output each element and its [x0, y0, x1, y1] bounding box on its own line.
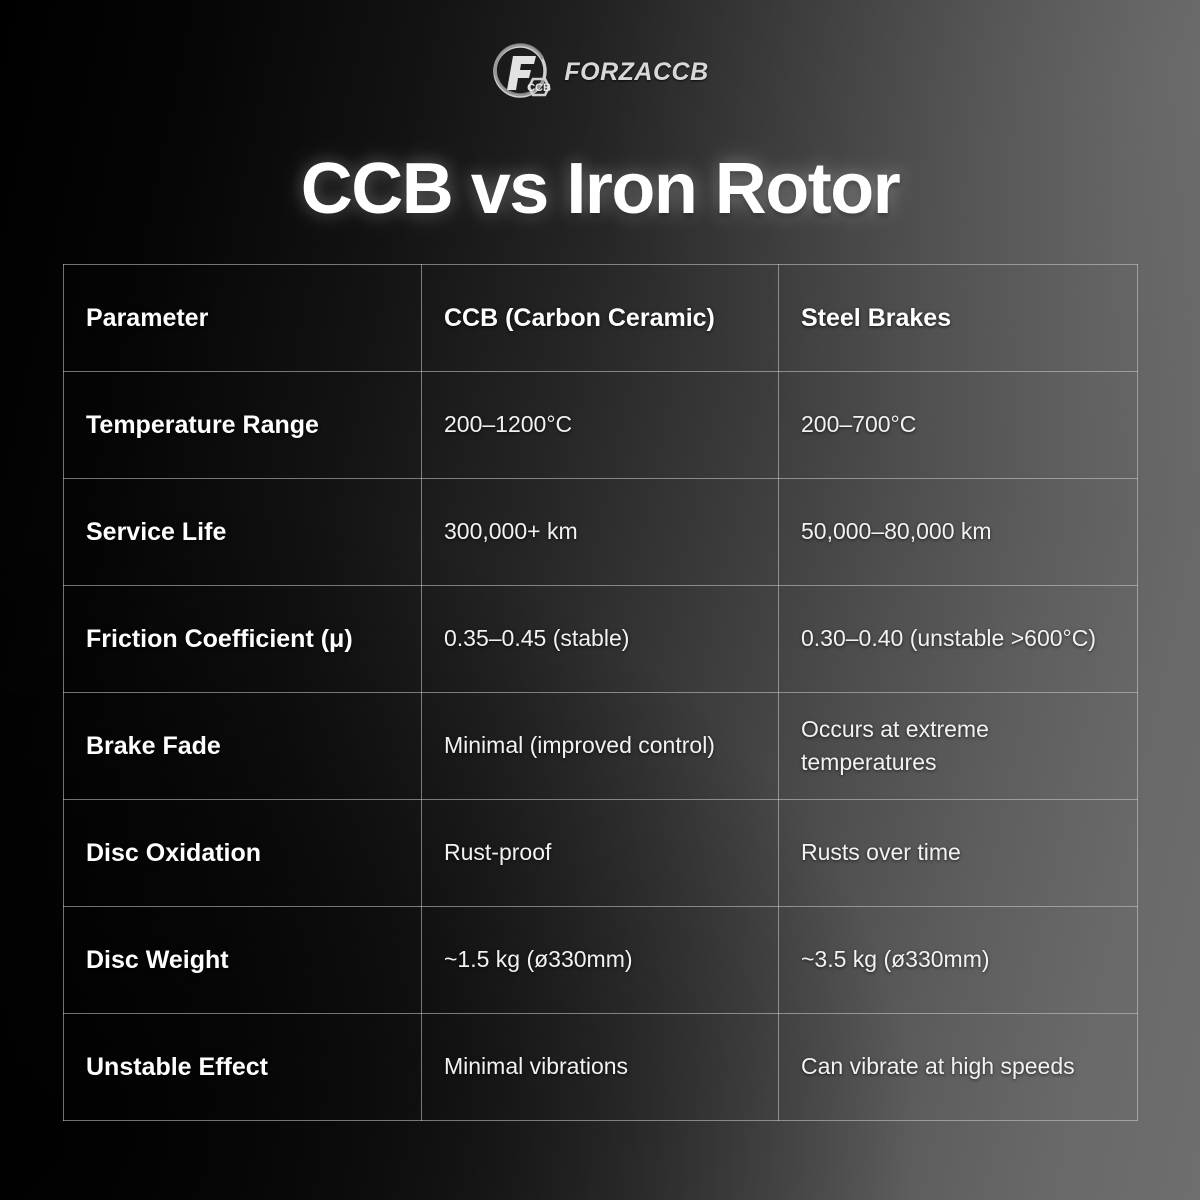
brand-header: CCB FORZACCB: [0, 0, 1200, 104]
row-label: Disc Oxidation: [64, 800, 422, 907]
cell-ccb: Minimal vibrations: [422, 1014, 779, 1121]
column-header-steel: Steel Brakes: [779, 265, 1138, 372]
row-label: Temperature Range: [64, 372, 422, 479]
cell-steel: Can vibrate at high speeds: [779, 1014, 1138, 1121]
poster-canvas: CCB FORZACCB CCB vs Iron Rotor Parameter…: [0, 0, 1200, 1200]
row-label: Friction Coefficient (μ): [64, 586, 422, 693]
cell-ccb: 0.35–0.45 (stable): [422, 586, 779, 693]
cell-steel: ~3.5 kg (ø330mm): [779, 907, 1138, 1014]
table-row: Brake Fade Minimal (improved control) Oc…: [64, 693, 1138, 800]
cell-ccb: ~1.5 kg (ø330mm): [422, 907, 779, 1014]
cell-steel: 50,000–80,000 km: [779, 479, 1138, 586]
column-header-parameter: Parameter: [64, 265, 422, 372]
table-header-row: Parameter CCB (Carbon Ceramic) Steel Bra…: [64, 265, 1138, 372]
brand-wordmark: FORZACCB: [564, 58, 708, 87]
table-row: Temperature Range 200–1200°C 200–700°C: [64, 372, 1138, 479]
forzaccb-logo-icon: CCB: [491, 42, 551, 102]
table-header: Parameter CCB (Carbon Ceramic) Steel Bra…: [64, 265, 1138, 372]
cell-steel: 200–700°C: [779, 372, 1138, 479]
svg-text:CCB: CCB: [527, 82, 551, 94]
table-body: Temperature Range 200–1200°C 200–700°C S…: [64, 372, 1138, 1121]
table-row: Disc Oxidation Rust-proof Rusts over tim…: [64, 800, 1138, 907]
row-label: Service Life: [64, 479, 422, 586]
column-header-ccb: CCB (Carbon Ceramic): [422, 265, 779, 372]
table-row: Unstable Effect Minimal vibrations Can v…: [64, 1014, 1138, 1121]
table-row: Disc Weight ~1.5 kg (ø330mm) ~3.5 kg (ø3…: [64, 907, 1138, 1014]
page-title: CCB vs Iron Rotor: [0, 104, 1200, 230]
cell-ccb: 300,000+ km: [422, 479, 779, 586]
cell-steel: 0.30–0.40 (unstable >600°C): [779, 586, 1138, 693]
comparison-table-container: Parameter CCB (Carbon Ceramic) Steel Bra…: [63, 264, 1137, 1121]
cell-steel: Rusts over time: [779, 800, 1138, 907]
comparison-table: Parameter CCB (Carbon Ceramic) Steel Bra…: [63, 264, 1138, 1121]
row-label: Brake Fade: [64, 693, 422, 800]
table-row: Service Life 300,000+ km 50,000–80,000 k…: [64, 479, 1138, 586]
row-label: Disc Weight: [64, 907, 422, 1014]
row-label: Unstable Effect: [64, 1014, 422, 1121]
cell-steel: Occurs at extreme temperatures: [779, 693, 1138, 800]
cell-ccb: Minimal (improved control): [422, 693, 779, 800]
cell-ccb: Rust-proof: [422, 800, 779, 907]
cell-ccb: 200–1200°C: [422, 372, 779, 479]
table-row: Friction Coefficient (μ) 0.35–0.45 (stab…: [64, 586, 1138, 693]
